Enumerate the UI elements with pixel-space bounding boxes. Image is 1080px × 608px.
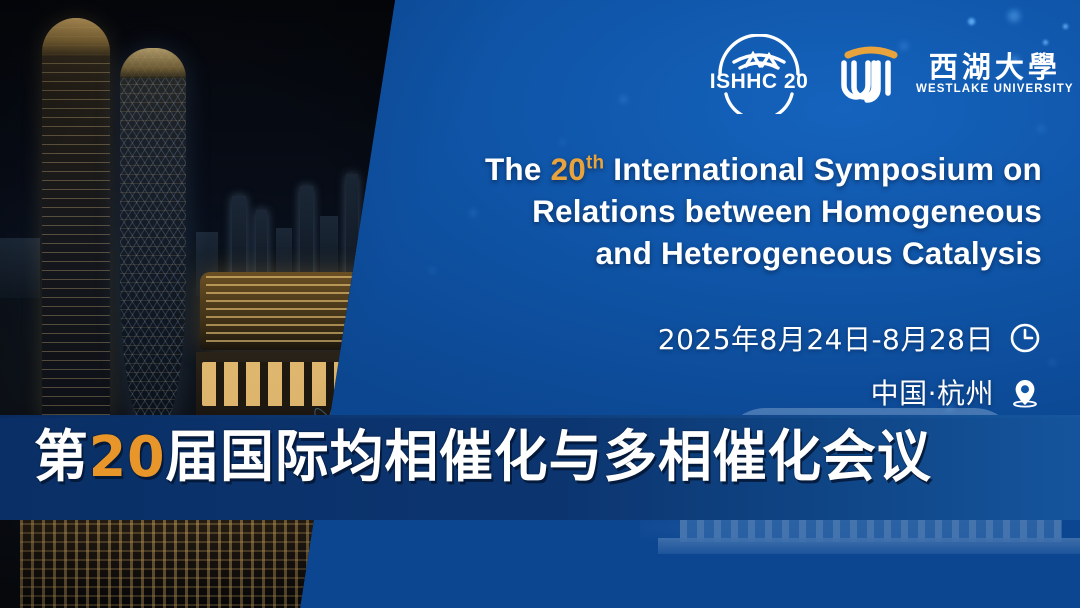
headline-number: 20 bbox=[89, 425, 166, 490]
event-date: 2025年8月24日-8月28日 bbox=[658, 318, 994, 358]
title-line1-after: International Symposium on bbox=[604, 151, 1042, 187]
title-ordinal-suffix: th bbox=[586, 153, 604, 174]
title-line3: and Heterogeneous Catalysis bbox=[595, 235, 1042, 271]
ishhc-logo[interactable]: ISHHC 20 bbox=[700, 34, 818, 114]
westlake-university-logo[interactable]: 西湖大學 WESTLAKE UNIVERSITY bbox=[838, 43, 1074, 105]
title-line1-before: The bbox=[485, 151, 551, 187]
bokeh-dot bbox=[968, 18, 975, 25]
bokeh-dot bbox=[1063, 24, 1068, 29]
logo-lockup: ISHHC 20 西湖大學 WESTLAKE UNIVERSITY bbox=[700, 34, 1074, 114]
band-top-edge bbox=[0, 415, 1080, 418]
map-pin-icon bbox=[1008, 375, 1042, 409]
westlake-name-block: 西湖大學 WESTLAKE UNIVERSITY bbox=[916, 53, 1074, 96]
headline-suffix: 届国际均相催化与多相催化会议 bbox=[165, 425, 931, 490]
westlake-w-monogram-icon bbox=[838, 43, 904, 105]
bokeh-dot bbox=[1050, 360, 1055, 365]
westlake-chinese-name: 西湖大學 bbox=[929, 53, 1061, 82]
event-location-row: 中国·杭州 bbox=[560, 372, 1042, 412]
title-line2: Relations between Homogeneous bbox=[532, 193, 1042, 229]
title-edition-number: 20 bbox=[551, 151, 586, 187]
conference-banner: ISHHC 20 西湖大學 WESTLAKE UNIVERSITY The 20… bbox=[0, 0, 1080, 608]
headline-prefix: 第 bbox=[34, 425, 89, 490]
clock-icon bbox=[1008, 321, 1042, 355]
event-date-row: 2025年8月24日-8月28日 bbox=[560, 318, 1042, 358]
ishhc-logo-text: ISHHC 20 bbox=[700, 70, 818, 94]
bokeh-dot bbox=[620, 96, 627, 103]
event-location: 中国·杭州 bbox=[871, 372, 994, 412]
bokeh-dot bbox=[560, 140, 565, 145]
building-base bbox=[658, 538, 1080, 554]
bokeh-dot bbox=[1008, 10, 1020, 22]
bokeh-dot bbox=[1038, 126, 1044, 132]
event-meta: 2025年8月24日-8月28日 中国·杭州 bbox=[560, 318, 1042, 426]
symposium-title: The 20th International Symposium on Rela… bbox=[380, 148, 1042, 275]
westlake-english-name: WESTLAKE UNIVERSITY bbox=[916, 84, 1074, 96]
chinese-headline: 第20届国际均相催化与多相催化会议 bbox=[34, 430, 932, 486]
